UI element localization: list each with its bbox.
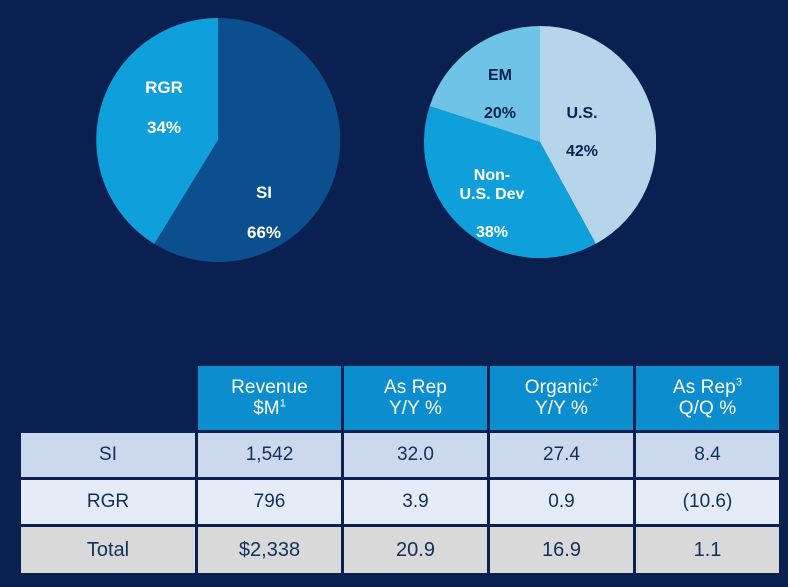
- table-header-organic-yy-line1-text: Organic: [525, 377, 592, 398]
- table-row-si-label: SI: [21, 433, 195, 477]
- table-row: SI 1,542 32.0 27.4 8.4: [21, 433, 779, 477]
- table-header-as-rep-yy-line2: Y/Y %: [344, 398, 487, 419]
- table-body: SI 1,542 32.0 27.4 8.4 RGR 796 3.9 0.9 (…: [21, 433, 779, 573]
- table-header-as-rep-qq: As Rep3 Q/Q %: [636, 366, 779, 430]
- table-row: Total $2,338 20.9 16.9 1.1: [21, 527, 779, 573]
- table-header-corner-spacer: [21, 366, 195, 430]
- table-header-as-rep-yy-line1: As Rep: [344, 377, 487, 398]
- table-header-revenue-line1: Revenue: [198, 377, 341, 398]
- table-header-organic-yy-line1: Organic2: [490, 377, 633, 398]
- table-row-si-as-rep-qq: 8.4: [636, 433, 779, 477]
- table-header-revenue-line2-text: $M: [253, 398, 280, 419]
- table-header-as-rep-qq-footnote: 3: [736, 376, 742, 388]
- table-row-si-as-rep-yy: 32.0: [344, 433, 487, 477]
- table-row-rgr-revenue: 796: [198, 480, 341, 524]
- table-row-rgr-organic-yy: 0.9: [490, 480, 633, 524]
- table-header-revenue: Revenue $M1: [198, 366, 341, 430]
- segmentation-pie-chart: RGR 34% SI 66%: [96, 18, 340, 262]
- slide-canvas: RGR 34% SI 66% EM 20% U.S. 42% Non- U.S.…: [0, 0, 788, 587]
- geography-pie-chart: EM 20% U.S. 42% Non- U.S. Dev 38%: [424, 26, 656, 258]
- table-row-rgr-label: RGR: [21, 480, 195, 524]
- table-row-rgr-as-rep-qq: (10.6): [636, 480, 779, 524]
- table-header-organic-yy-line2: Y/Y %: [490, 398, 633, 419]
- table-header-as-rep-qq-line1: As Rep3: [636, 377, 779, 398]
- table-row-total-revenue: $2,338: [198, 527, 341, 573]
- segmentation-pie-svg: [96, 18, 340, 262]
- table-row: RGR 796 3.9 0.9 (10.6): [21, 480, 779, 524]
- table-row-si-revenue: 1,542: [198, 433, 341, 477]
- revenue-table: Revenue $M1 As Rep Y/Y % Organic2 Y/Y % …: [18, 363, 782, 576]
- table-header-as-rep-qq-line2: Q/Q %: [636, 398, 779, 419]
- table-header-revenue-footnote: 1: [280, 398, 286, 410]
- table-header-revenue-line2: $M1: [198, 398, 341, 419]
- table-row-total-as-rep-yy: 20.9: [344, 527, 487, 573]
- table-row-si-organic-yy: 27.4: [490, 433, 633, 477]
- table-header-as-rep-yy: As Rep Y/Y %: [344, 366, 487, 430]
- table-header-organic-footnote: 2: [592, 376, 598, 388]
- table-row-total-organic-yy: 16.9: [490, 527, 633, 573]
- table-header: Revenue $M1 As Rep Y/Y % Organic2 Y/Y % …: [21, 366, 779, 430]
- geography-pie-svg: [424, 26, 656, 258]
- table-row-rgr-as-rep-yy: 3.9: [344, 480, 487, 524]
- table-row-total-label: Total: [21, 527, 195, 573]
- table-header-row: Revenue $M1 As Rep Y/Y % Organic2 Y/Y % …: [21, 366, 779, 430]
- table-row-total-as-rep-qq: 1.1: [636, 527, 779, 573]
- table-header-as-rep-qq-line1-text: As Rep: [673, 377, 736, 398]
- table-header-organic-yy: Organic2 Y/Y %: [490, 366, 633, 430]
